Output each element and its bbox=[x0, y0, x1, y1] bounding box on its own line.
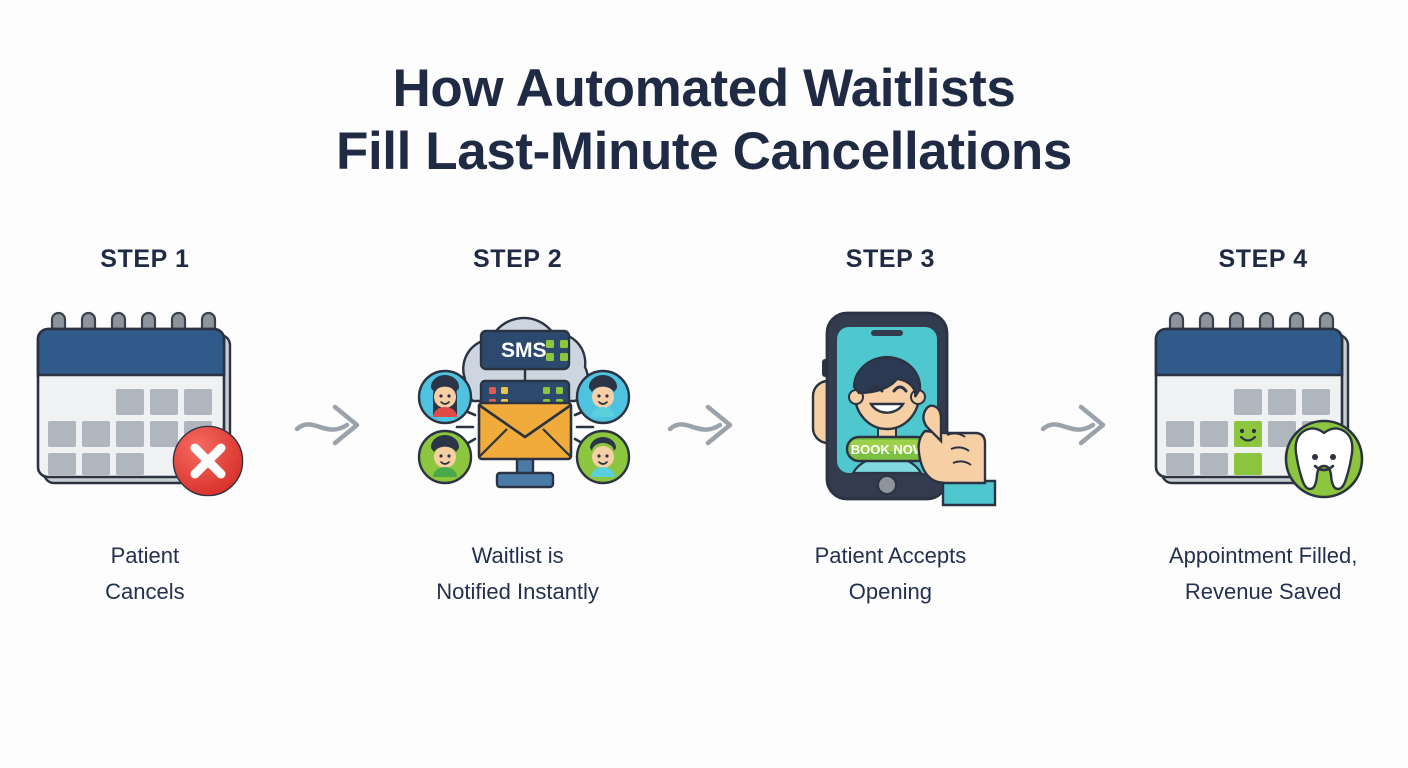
step-3-label: STEP 3 bbox=[846, 245, 935, 274]
step-3: STEP 3 bbox=[746, 245, 1036, 609]
step-1-artwork bbox=[25, 300, 265, 510]
calendar-cancelled-icon bbox=[30, 305, 260, 505]
infographic-page: How Automated Waitlists Fill Last-Minute… bbox=[0, 0, 1408, 768]
step-2: STEP 2 SMS bbox=[373, 245, 663, 609]
tooth-badge bbox=[1286, 421, 1362, 497]
arrow-step2-to-step3 bbox=[662, 320, 745, 530]
step-3-artwork: BOOK NOW bbox=[770, 300, 1010, 510]
book-now-label: BOOK NOW bbox=[851, 442, 926, 457]
step-3-caption: Patient Accepts Opening bbox=[815, 538, 967, 609]
step-1: STEP 1 bbox=[0, 245, 290, 609]
step-4-artwork bbox=[1143, 300, 1383, 510]
arrow-step3-to-step4 bbox=[1035, 320, 1118, 530]
booked-smiley-cell bbox=[1234, 421, 1262, 447]
booked-cell bbox=[1234, 453, 1262, 475]
book-now-button[interactable]: BOOK NOW bbox=[847, 437, 929, 461]
calendar-booked-tooth-icon bbox=[1148, 305, 1378, 505]
arrow-step1-to-step2 bbox=[290, 320, 373, 530]
title-line-1: How Automated Waitlists bbox=[336, 58, 1072, 121]
sms-server-label: SMS bbox=[501, 339, 547, 362]
page-title: How Automated Waitlists Fill Last-Minute… bbox=[336, 58, 1072, 183]
steps-row: STEP 1 bbox=[0, 245, 1408, 609]
avatar-top-right bbox=[577, 371, 629, 423]
step-4-caption: Appointment Filled, Revenue Saved bbox=[1169, 538, 1357, 609]
avatar-top-left bbox=[419, 371, 471, 423]
title-line-2: Fill Last-Minute Cancellations bbox=[336, 121, 1072, 184]
step-2-caption: Waitlist is Notified Instantly bbox=[436, 538, 599, 609]
step-4-label: STEP 4 bbox=[1219, 245, 1308, 274]
avatar-bottom-right bbox=[577, 431, 629, 483]
cloud-sms-broadcast-icon: SMS bbox=[403, 305, 633, 505]
step-2-label: STEP 2 bbox=[473, 245, 562, 274]
red-x-badge bbox=[174, 427, 242, 495]
avatar-bottom-left bbox=[419, 431, 471, 483]
phone-book-now-icon: BOOK NOW bbox=[775, 303, 1005, 508]
step-2-artwork: SMS bbox=[398, 300, 638, 510]
step-1-caption: Patient Cancels bbox=[105, 538, 184, 609]
step-4: STEP 4 bbox=[1118, 245, 1408, 609]
step-1-label: STEP 1 bbox=[100, 245, 189, 274]
